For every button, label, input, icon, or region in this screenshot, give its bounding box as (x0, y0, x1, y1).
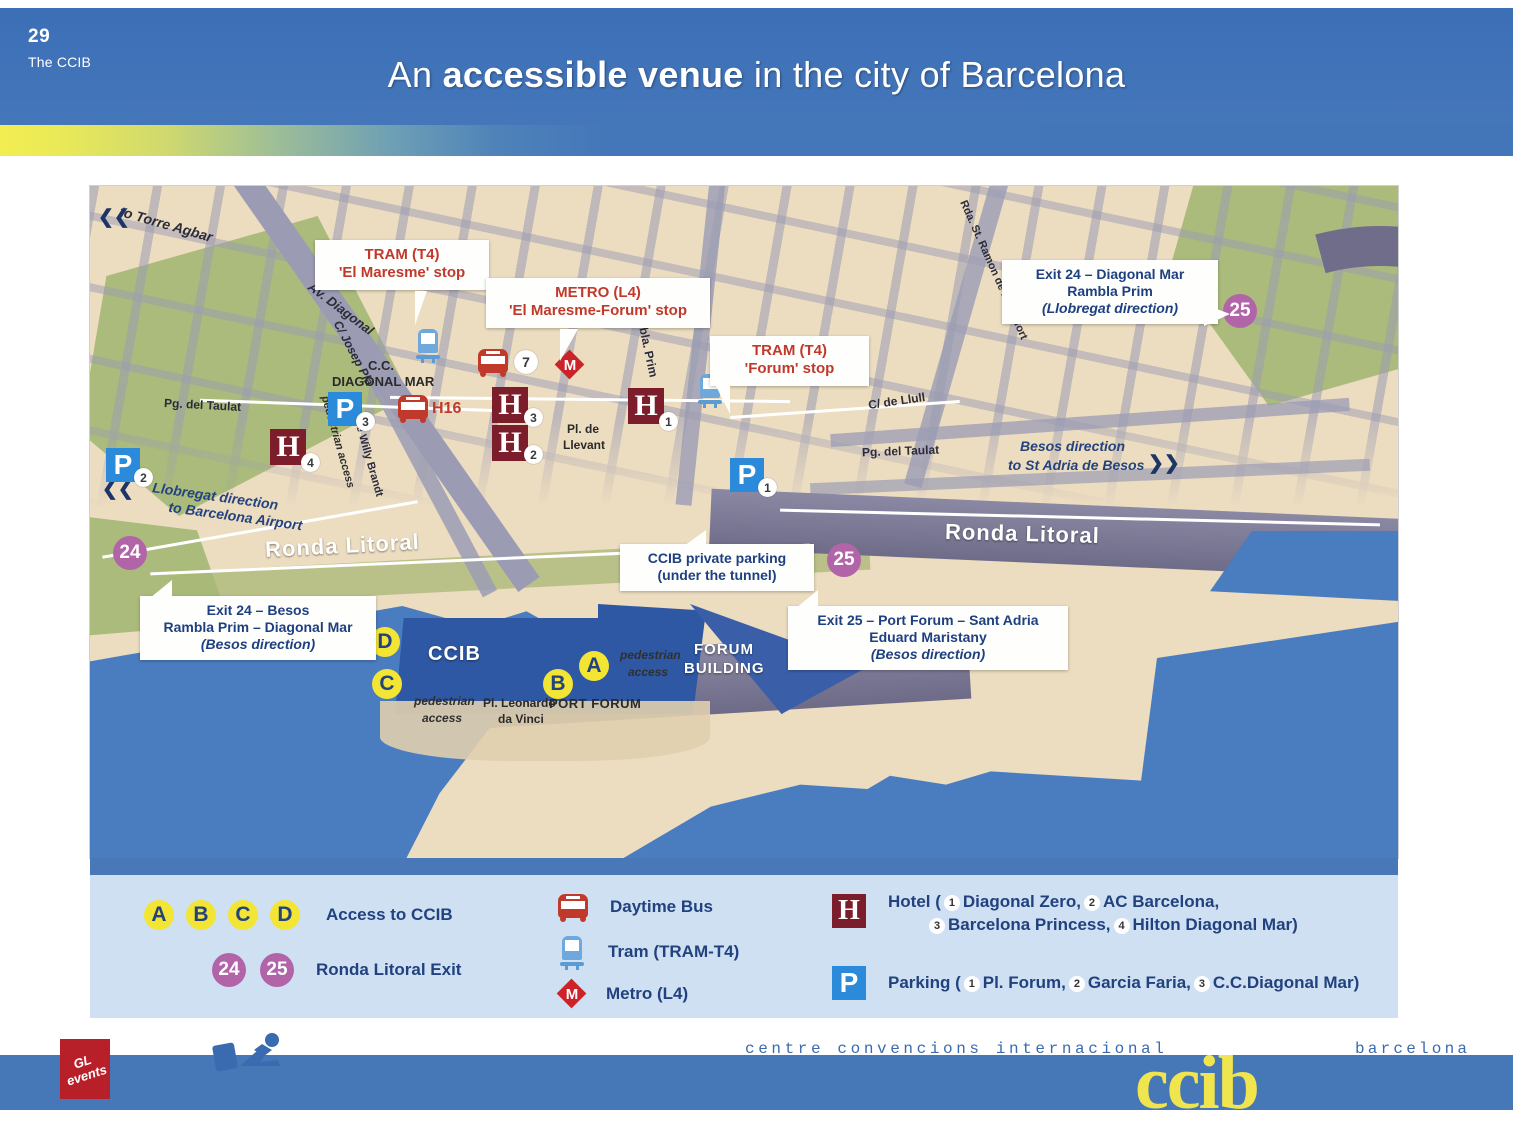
tram-icon (560, 936, 584, 968)
callout-tram-el-maresme: TRAM (T4) 'El Maresme' stop (315, 240, 489, 290)
map-label-pedestrian-mid-1: pedestrian (414, 694, 475, 708)
callout-tram-forum-line1: TRAM (T4) (722, 342, 857, 360)
bus-line-h16-label: H16 (432, 400, 461, 418)
ccib-wordmark: ccib (1135, 1040, 1258, 1127)
callout-tail-exit24dm (1204, 304, 1230, 326)
callout-exit24dm-line1: Exit 24 – Diagonal Mar (1014, 266, 1206, 283)
legend-row-hotel: H Hotel (1Diagonal Zero,2AC Barcelona, 3… (832, 892, 1298, 935)
hotel-icon: H (832, 894, 866, 928)
legend-row-bus: Daytime Bus (558, 894, 713, 920)
legend-exit-25: 25 (260, 953, 294, 987)
page-number: 29 (28, 26, 50, 48)
bus-line-7-badge: 7 (514, 350, 538, 374)
tram-icon-el-maresme[interactable] (416, 329, 440, 361)
legend-metro-label: Metro (L4) (606, 984, 688, 1004)
building-label-ccib: CCIB (428, 643, 481, 666)
legend-bus-label: Daytime Bus (610, 897, 713, 917)
title-bold: accessible venue (443, 54, 744, 95)
callout-tail-ccibpp (684, 530, 706, 546)
building-label-forum-2: BUILDING (684, 660, 765, 677)
callout-ccibpp-line1: CCIB private parking (632, 550, 802, 567)
gl-logo-line2: events (65, 1062, 109, 1089)
parking-marker-1-badge: 1 (758, 478, 777, 497)
map-label-pedestrian-right-1: pedestrian (620, 648, 681, 662)
legend-parking-name2: Garcia Faria, (1088, 973, 1191, 992)
legend-parking-line: Parking (1Pl. Forum,2Garcia Faria,3C.C.D… (888, 973, 1359, 993)
legend-hotel-prefix: Hotel ( (888, 892, 941, 911)
callout-tail-exit24b (150, 580, 172, 598)
callout-metro-line2: 'El Maresme-Forum' stop (498, 302, 698, 320)
parking-marker-3-badge: 3 (356, 412, 375, 431)
bus-icon (558, 894, 588, 920)
legend-row-parking: P Parking (1Pl. Forum,2Garcia Faria,3C.C… (832, 966, 1359, 1000)
callout-exit25-line1: Exit 25 – Port Forum – Sant Adria (800, 612, 1056, 629)
ccib-plaza-apron (380, 701, 710, 761)
slide-header: 29 The CCIB An accessible venue in the c… (0, 8, 1513, 125)
access-marker-a[interactable]: A (579, 651, 609, 681)
callout-exit25-line2: Eduard Maristany (800, 629, 1056, 646)
legend-parking-n2: 2 (1069, 976, 1085, 992)
legend-access-c: C (228, 900, 258, 930)
callout-tail-tram-el-maresme (415, 291, 427, 325)
map-label-pl-leonardo-2: da Vinci (498, 712, 544, 726)
legend-exits-label: Ronda Litoral Exit (316, 960, 461, 980)
callout-tram-forum: TRAM (T4) 'Forum' stop (710, 336, 869, 386)
legend-hotel-n2: 2 (1084, 895, 1100, 911)
bus-icon-line-7[interactable] (478, 349, 508, 375)
legend-hotel-n1: 1 (944, 895, 960, 911)
callout-tram-el-maresme-line2: 'El Maresme' stop (327, 264, 477, 282)
callout-exit24dm-line2: Rambla Prim (1014, 283, 1206, 300)
map-legend: A B C D Access to CCIB 24 25 Ronda Litor… (90, 858, 1398, 1018)
page-title: An accessible venue in the city of Barce… (0, 54, 1513, 96)
legend-hotel-line2: 3Barcelona Princess,4Hilton Diagonal Mar… (926, 915, 1298, 935)
road-label-ronda-litoral-east: Ronda Litoral (945, 519, 1100, 549)
legend-tram-label: Tram (TRAM-T4) (608, 942, 739, 962)
callout-tail-metro (560, 329, 578, 361)
access-marker-c[interactable]: C (372, 669, 402, 699)
parking-icon: P (832, 966, 866, 1000)
bus-icon-h16[interactable] (398, 395, 428, 421)
footer-city: barcelona (1355, 1040, 1470, 1058)
legend-hotel-name1: Diagonal Zero, (963, 892, 1081, 911)
title-prefix: An (388, 54, 443, 95)
building-label-forum-1: FORUM (694, 641, 754, 658)
metro-icon: M (558, 980, 586, 1008)
legend-hotel-n3: 3 (929, 918, 945, 934)
access-marker-b[interactable]: B (543, 669, 573, 699)
legend-hotel-name2: AC Barcelona, (1103, 892, 1219, 911)
callout-ccib-private-parking: CCIB private parking (under the tunnel) (620, 544, 814, 591)
exit-marker-24-west[interactable]: 24 (113, 536, 147, 570)
legend-row-tram: Tram (TRAM-T4) (560, 936, 739, 968)
legend-parking-prefix: Parking ( (888, 973, 961, 992)
legend-row-access: A B C D Access to CCIB (144, 900, 453, 930)
map-label-pl-de-llevant-2: Llevant (563, 438, 605, 452)
map-label-pg-del-taulat-right: Pg. del Taulat (862, 443, 940, 460)
header-gradient-strip (0, 125, 1513, 156)
legend-row-metro: M Metro (L4) (558, 980, 688, 1008)
hotel-marker-1-badge: 1 (659, 412, 678, 431)
legend-exit-24: 24 (212, 953, 246, 987)
callout-exit24b-line2: Rambla Prim – Diagonal Mar (152, 619, 364, 636)
legend-hotel-line1: Hotel (1Diagonal Zero,2AC Barcelona, (888, 892, 1298, 912)
callout-exit24dm-line3: (Llobregat direction) (1014, 300, 1206, 317)
hotel-marker-2-badge: 2 (524, 445, 543, 464)
callout-exit25-line3: (Besos direction) (800, 646, 1056, 663)
hotel-marker-2[interactable]: H (492, 425, 528, 461)
callout-tail-exit25 (796, 590, 818, 608)
map-label-pl-leonardo-1: Pl. Leonardo (483, 696, 556, 710)
callout-ccibpp-line2: (under the tunnel) (632, 567, 802, 584)
legend-top-bar (90, 858, 1398, 875)
callout-exit24b-line1: Exit 24 – Besos (152, 602, 364, 619)
callout-tail-tram-forum (716, 386, 730, 414)
callout-exit25-port-forum: Exit 25 – Port Forum – Sant Adria Eduard… (788, 606, 1068, 670)
map-label-cc-diagonal-mar-1: C.C. (368, 358, 394, 373)
runner-icon (200, 1032, 300, 1082)
callout-exit24-besos: Exit 24 – Besos Rambla Prim – Diagonal M… (140, 596, 376, 660)
map-label-cc-diagonal-mar-2: DIAGONAL MAR (332, 374, 434, 389)
map-label-pedestrian-right-2: access (628, 665, 668, 679)
legend-parking-name1: Pl. Forum, (983, 973, 1066, 992)
callout-metro-line1: METRO (L4) (498, 284, 698, 302)
legend-hotel-n4: 4 (1114, 918, 1130, 934)
callout-tram-forum-line2: 'Forum' stop (722, 360, 857, 378)
arrow-besos-direction: ❯❯ (1148, 452, 1180, 475)
footer-tagline: centre convencions internacional (745, 1040, 1167, 1058)
callout-tram-el-maresme-line1: TRAM (T4) (327, 246, 477, 264)
legend-row-exits: 24 25 Ronda Litoral Exit (212, 953, 461, 987)
title-suffix: in the city of Barcelona (744, 54, 1126, 95)
map-label-pl-de-llevant-1: Pl. de (567, 422, 599, 436)
map-label-besos-direction-2: to St Adria de Besos (1008, 457, 1144, 473)
map-label-besos-direction-1: Besos direction (1020, 438, 1125, 454)
exit-marker-25[interactable]: 25 (827, 543, 861, 577)
hotel-marker-4-badge: 4 (301, 453, 320, 472)
callout-exit24-diagonal-mar: Exit 24 – Diagonal Mar Rambla Prim (Llob… (1002, 260, 1218, 324)
map-label-pedestrian-mid-2: access (422, 711, 462, 725)
callout-exit24b-line3: (Besos direction) (152, 636, 364, 653)
legend-access-d: D (270, 900, 300, 930)
gl-events-logo: GLevents (60, 1039, 110, 1099)
legend-access-b: B (186, 900, 216, 930)
legend-hotel-name4: Hilton Diagonal Mar) (1133, 915, 1298, 934)
legend-parking-n1: 1 (964, 976, 980, 992)
legend-parking-name3: C.C.Diagonal Mar) (1213, 973, 1359, 992)
legend-access-label: Access to CCIB (326, 905, 453, 925)
callout-metro-el-maresme-forum: METRO (L4) 'El Maresme-Forum' stop (486, 278, 710, 328)
map-label-port-forum: PORT FORUM (549, 696, 641, 711)
arrow-to-torre-agbar: ❮❮ (98, 206, 130, 229)
venue-map: to Torre Agbar ❮❮ Av. Diagonal C/ Josep … (90, 186, 1398, 858)
legend-access-a: A (144, 900, 174, 930)
parking-marker-2-badge: 2 (134, 468, 153, 487)
legend-hotel-name3: Barcelona Princess, (948, 915, 1111, 934)
hotel-marker-3[interactable]: H (492, 387, 528, 423)
legend-parking-n3: 3 (1194, 976, 1210, 992)
